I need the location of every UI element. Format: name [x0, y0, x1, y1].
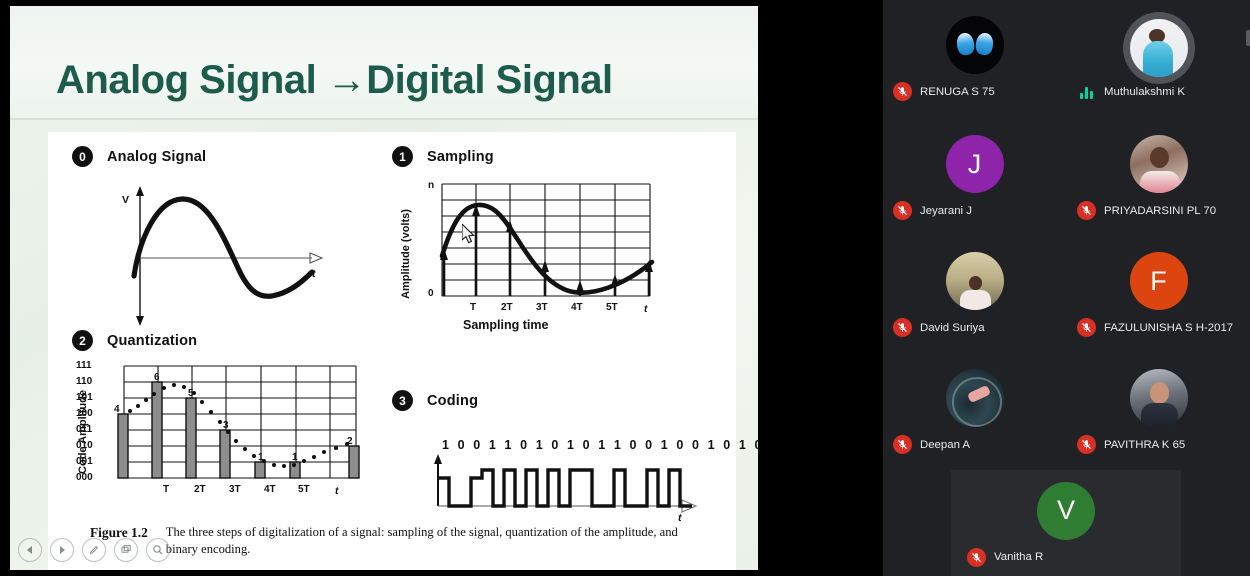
- mic-muted-icon: [1077, 435, 1096, 454]
- grid-icon: [120, 544, 132, 556]
- participant-tile[interactable]: RENUGA S 75: [883, 0, 1066, 117]
- q-xtick-t: t: [335, 486, 338, 497]
- avatar-image: [1130, 369, 1188, 427]
- avatar: [1130, 135, 1188, 193]
- slideshow-toolbar[interactable]: [18, 538, 170, 562]
- participant-row: V Vanitha R: [883, 470, 1250, 576]
- q-xtick-2T: 2T: [194, 484, 206, 495]
- zoom-button[interactable]: [146, 538, 170, 562]
- q-ytick-010: 010: [76, 440, 93, 451]
- panel-coding: 3 Coding 1 0 0 1 1 0 1 0 1 0 1 1 0 0 1 0…: [378, 390, 718, 520]
- q-bar-label-2: 2: [347, 436, 353, 447]
- participant-tile[interactable]: PRIYADARSINI PL 70: [1067, 119, 1250, 236]
- participant-tile[interactable]: F FAZULUNISHA S H-2017: [1067, 236, 1250, 353]
- panel-analog-signal: 0 Analog Signal V: [66, 146, 386, 336]
- q-ytick-100: 100: [76, 408, 93, 419]
- mic-muted-icon: [1077, 201, 1096, 220]
- panel-title-analog: Analog Signal: [107, 149, 206, 165]
- mic-muted-icon: [893, 435, 912, 454]
- participant-row: David Suriya F FAZULUN: [883, 236, 1250, 353]
- participant-name: Deepan A: [920, 439, 970, 451]
- panel-title-quantization: Quantization: [107, 333, 197, 349]
- mic-muted-icon: [893, 82, 912, 101]
- q-ytick-110: 110: [76, 376, 92, 387]
- coding-bitstream: 1 0 0 1 1 0 1 0 1 0 1 1 0 0 1 0 0 1 0 1 …: [442, 438, 758, 452]
- analog-x-axis-label: t: [312, 268, 316, 280]
- participant-name: PRIYADARSINI PL 70: [1104, 205, 1216, 217]
- avatar: V: [1037, 482, 1095, 540]
- screen: Analog Signal →Digital Signal 0 Analog S…: [0, 0, 1250, 576]
- figure-caption-text: The three steps of digitalization of a s…: [166, 524, 681, 558]
- participant-tile[interactable]: V Vanitha R: [951, 470, 1181, 576]
- avatar-image: [946, 16, 1004, 74]
- participant-name: Muthulakshmi K: [1104, 86, 1185, 98]
- avatar-initial: V: [1037, 482, 1095, 540]
- quantization-chart: [106, 362, 396, 497]
- avatar: [1130, 19, 1188, 77]
- q-bar-label-1a: 1: [258, 452, 264, 463]
- panel-title-sampling: Sampling: [427, 149, 494, 165]
- q-bar-label-6: 6: [154, 372, 160, 383]
- participant-name: PAVITHRA K 65: [1104, 439, 1185, 451]
- shared-screen-region[interactable]: Analog Signal →Digital Signal 0 Analog S…: [0, 0, 883, 576]
- q-ytick-111: 111: [76, 360, 92, 371]
- q-bar-label-3: 3: [223, 420, 229, 431]
- participant-tile[interactable]: Muthulakshmi K: [1067, 0, 1250, 117]
- panel-quantization: 2 Quantization: [66, 330, 386, 520]
- participant-name: FAZULUNISHA S H-2017: [1104, 322, 1233, 334]
- sampling-xtick-2T: 2T: [501, 302, 513, 313]
- participant-tile[interactable]: David Suriya: [883, 236, 1066, 353]
- sampling-xtick-5T: 5T: [606, 302, 618, 313]
- mic-muted-icon: [893, 318, 912, 337]
- sampling-ytick-n: n: [428, 180, 434, 191]
- avatar: [946, 252, 1004, 310]
- avatar-image: [946, 252, 1004, 310]
- page-title: Analog Signal →Digital Signal: [56, 58, 613, 103]
- pen-tool-button[interactable]: [82, 538, 106, 562]
- participant-name: David Suriya: [920, 322, 985, 334]
- mic-muted-icon: [1077, 318, 1096, 337]
- participant-row: J Jeyarani J: [883, 119, 1250, 236]
- participant-row: Deepan A PAVITHRA K 6: [883, 353, 1250, 470]
- participant-row: RENUGA S 75 Muthulakshmi K: [883, 0, 1250, 119]
- participant-name: RENUGA S 75: [920, 86, 995, 98]
- q-bar-label-1b: 1: [292, 452, 298, 463]
- avatar: [946, 369, 1004, 427]
- participants-panel[interactable]: RENUGA S 75 Muthulakshmi K J: [883, 0, 1250, 576]
- sampling-x-axis-label: Sampling time: [463, 318, 548, 332]
- q-ytick-000: 000: [76, 472, 93, 483]
- analog-y-axis-label: V: [122, 194, 129, 206]
- pen-icon: [88, 544, 100, 556]
- participant-tile[interactable]: J Jeyarani J: [883, 119, 1066, 236]
- mic-muted-icon: [893, 201, 912, 220]
- q-ytick-011: 011: [76, 424, 92, 435]
- q-ytick-001: 001: [76, 456, 93, 467]
- panel-badge-1: 1: [392, 146, 413, 167]
- sampling-y-axis-label: Amplitude (volts): [400, 204, 412, 304]
- figure-card: 0 Analog Signal V: [48, 132, 736, 570]
- avatar-initial: F: [1130, 252, 1188, 310]
- avatar-image: [946, 369, 1004, 427]
- mic-muted-icon: [967, 548, 986, 567]
- q-xtick-4T: 4T: [264, 484, 276, 495]
- participant-tile[interactable]: PAVITHRA K 65: [1067, 353, 1250, 470]
- all-slides-button[interactable]: [114, 538, 138, 562]
- magnifier-icon: [152, 544, 164, 556]
- avatar-initial: J: [946, 135, 1004, 193]
- participant-name: Jeyarani J: [920, 205, 972, 217]
- figure-caption: Figure 1.2The three steps of digitalizat…: [90, 524, 722, 558]
- panel-badge-3: 3: [392, 390, 413, 411]
- analog-signal-chart: [66, 176, 386, 332]
- sampling-xtick-T: T: [470, 302, 476, 313]
- participant-name: Vanitha R: [994, 551, 1043, 563]
- avatar: [1130, 369, 1188, 427]
- avatar: J: [946, 135, 1004, 193]
- avatar-image: [1130, 19, 1188, 77]
- audio-level-icon: [1077, 85, 1096, 99]
- q-xtick-T: T: [163, 484, 169, 495]
- q-ytick-101: 101: [76, 392, 93, 403]
- avatar-image: [1130, 135, 1188, 193]
- panel-scroll-indicator[interactable]: [1246, 30, 1250, 46]
- coding-waveform: [430, 454, 710, 516]
- previous-slide-button[interactable]: [18, 538, 42, 562]
- q-bar-label-5: 5: [188, 388, 194, 399]
- q-xtick-5T: 5T: [298, 484, 310, 495]
- chevron-left-icon: [25, 545, 35, 555]
- sampling-ytick-0: 0: [428, 288, 434, 299]
- panel-title-coding: Coding: [427, 393, 478, 409]
- presentation-slide[interactable]: Analog Signal →Digital Signal 0 Analog S…: [10, 6, 758, 570]
- panel-badge-2: 2: [72, 330, 93, 351]
- q-xtick-3T: 3T: [229, 484, 241, 495]
- avatar: F: [1130, 252, 1188, 310]
- sampling-xtick-3T: 3T: [536, 302, 548, 313]
- participant-tile[interactable]: Deepan A: [883, 353, 1066, 470]
- panel-badge-0: 0: [72, 146, 93, 167]
- avatar: [946, 16, 1004, 74]
- sampling-xtick-t: t: [644, 304, 647, 315]
- chevron-right-icon: [57, 545, 67, 555]
- sampling-xtick-4T: 4T: [571, 302, 583, 313]
- coding-x-axis-label: t: [678, 512, 682, 524]
- panel-sampling: 1 Sampling: [378, 146, 698, 346]
- next-slide-button[interactable]: [50, 538, 74, 562]
- q-bar-label-4: 4: [114, 404, 120, 415]
